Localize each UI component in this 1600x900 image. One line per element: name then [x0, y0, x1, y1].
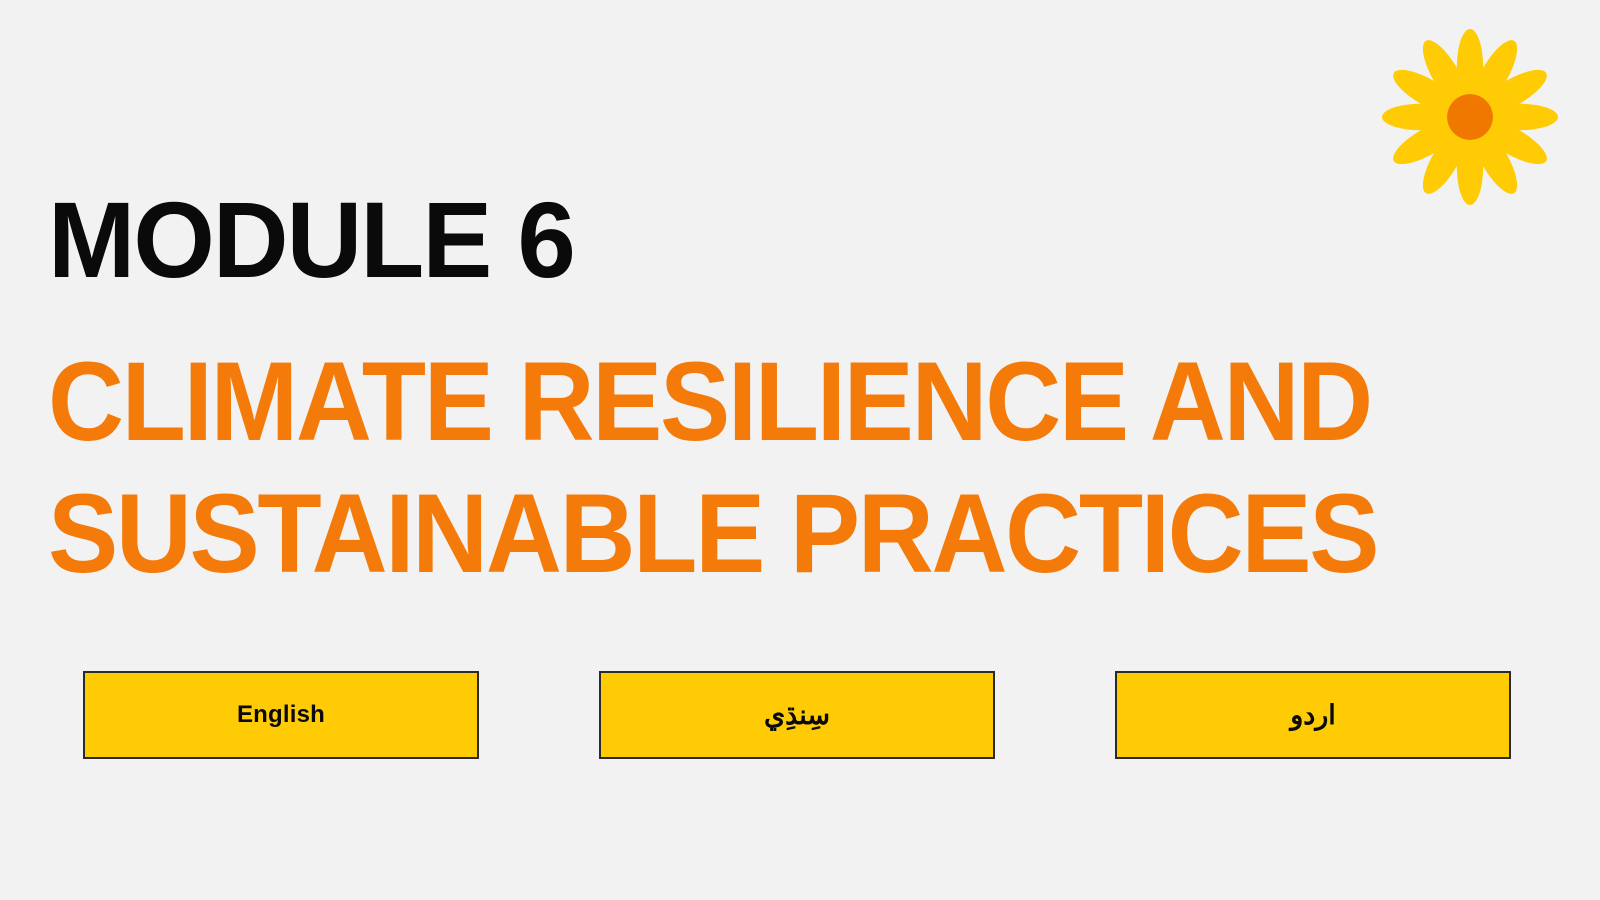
flower-icon — [1382, 29, 1558, 205]
module-label: MODULE 6 — [48, 186, 1406, 294]
language-button-sindhi[interactable]: سِنڌِي — [599, 671, 995, 759]
language-button-urdu[interactable]: اردو — [1115, 671, 1511, 759]
page-title: CLIMATE RESILIENCE AND SUSTAINABLE PRACT… — [48, 336, 1364, 600]
slide-canvas: MODULE 6 CLIMATE RESILIENCE AND SUSTAINA… — [0, 0, 1600, 900]
language-button-english[interactable]: English — [83, 671, 479, 759]
language-button-english-label: English — [237, 701, 325, 729]
language-button-urdu-label: اردو — [1290, 700, 1336, 731]
page-title-line-1: CLIMATE RESILIENCE AND — [48, 336, 1364, 468]
heading-block: MODULE 6 CLIMATE RESILIENCE AND SUSTAINA… — [48, 186, 1448, 600]
language-button-sindhi-label: سِنڌِي — [764, 700, 830, 731]
language-selector: English سِنڌِي اردو — [83, 671, 1513, 759]
page-title-line-2: SUSTAINABLE PRACTICES — [48, 468, 1364, 600]
